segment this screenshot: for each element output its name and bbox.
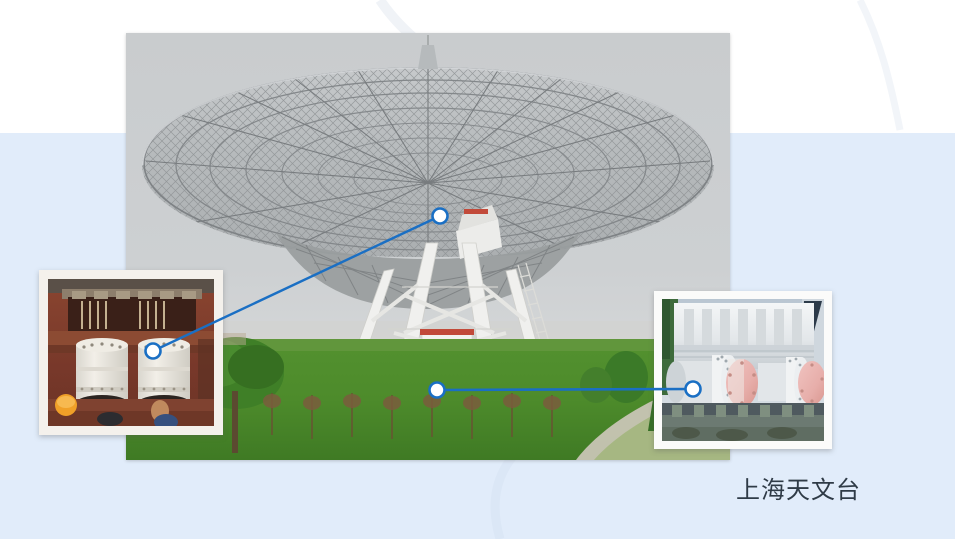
inset-left-image [48,279,214,426]
slide-canvas: 上海天文台 [0,0,955,539]
photo-caption: 上海天文台 [736,470,861,505]
inset-photo-left [39,270,223,435]
inset-photo-right [654,291,832,449]
inset-right-image [662,299,824,441]
